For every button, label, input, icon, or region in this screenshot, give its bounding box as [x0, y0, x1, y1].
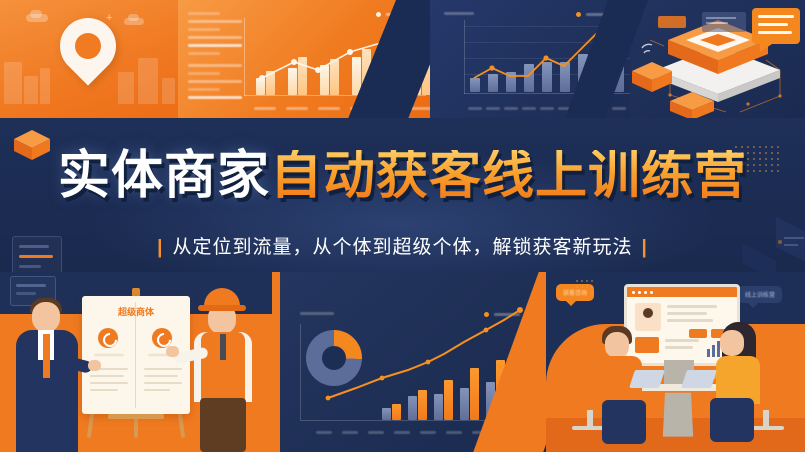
board-title: 超级商体 [82, 305, 190, 318]
subtitle-text: 从定位到流量，从个体到超级个体，解锁获客新玩法 [172, 237, 632, 258]
bottom-row: 超级商体 [0, 272, 805, 452]
x-tick-label [318, 107, 340, 110]
building-shape [118, 72, 134, 104]
page-title: 实体商家自动获客线上训练营 [0, 150, 805, 202]
construction-worker-figure [188, 288, 262, 452]
title-white-part: 实体商家 [58, 150, 270, 202]
dot-grid-pattern [576, 280, 596, 298]
x-tick-label [522, 107, 536, 110]
hard-hat-brim [198, 305, 246, 311]
tie-shape [220, 334, 226, 360]
location-pin-panel: + [0, 0, 188, 122]
building-shape [162, 78, 175, 104]
x-tick-label [410, 107, 432, 110]
office-meeting-scene: 获客咨询 线上训练营 [546, 272, 805, 452]
analytics-panel [272, 272, 546, 452]
consultant-and-worker-scene: 超级商体 [0, 272, 272, 452]
isometric-platform-panel [630, 0, 805, 122]
building-shape [40, 68, 50, 104]
x-tick-label [342, 431, 358, 434]
window-titlebar [627, 287, 737, 297]
laptop-right [681, 370, 717, 388]
laptop-left [629, 370, 665, 388]
subtitle-right-mark: | [642, 237, 648, 258]
x-tick-label [468, 107, 482, 110]
poster-root: + [0, 0, 805, 452]
businessman-figure [14, 296, 84, 452]
trousers-shape [200, 398, 246, 452]
x-tick-label [394, 431, 410, 434]
head-shape [720, 330, 744, 356]
x-tick-label [486, 107, 500, 110]
x-tick-label [254, 107, 276, 110]
top-strip: + [0, 0, 805, 122]
building-shape [24, 76, 38, 104]
legs-shape [710, 398, 754, 442]
building-shape [4, 62, 22, 104]
x-tick-label [540, 107, 554, 110]
sparkle-icon: + [106, 12, 112, 24]
map-pin-icon [48, 6, 127, 85]
page-subtitle: |从定位到流量，从个体到超级个体，解锁获客新玩法| [0, 232, 805, 259]
x-tick-label [286, 107, 308, 110]
easel-tray [108, 414, 164, 419]
head-shape [32, 302, 60, 332]
x-tick-label [504, 107, 518, 110]
torso-shape [716, 356, 760, 404]
hand-shape [88, 360, 101, 371]
subtitle-left-mark: | [157, 237, 163, 258]
speech-bubble-right: 线上训练营 [738, 286, 782, 303]
x-tick-label [446, 431, 462, 434]
heart-badge-icon [152, 328, 172, 348]
bubble-right-text: 线上训练营 [745, 293, 775, 299]
tie-shape [43, 334, 50, 378]
check-badge-icon [98, 328, 118, 348]
legs-shape [602, 400, 646, 444]
hand-shape [166, 346, 179, 357]
cloud-icon [30, 10, 42, 18]
building-shape [138, 58, 158, 104]
x-tick-label [420, 431, 436, 434]
x-tick-label [612, 107, 626, 110]
x-tick-label [368, 431, 384, 434]
desk-leg [663, 393, 693, 437]
title-orange-part: 自动获客线上训练营 [270, 150, 747, 202]
x-tick-label [316, 431, 332, 434]
cloud-icon [128, 14, 139, 21]
head-shape [605, 332, 629, 358]
